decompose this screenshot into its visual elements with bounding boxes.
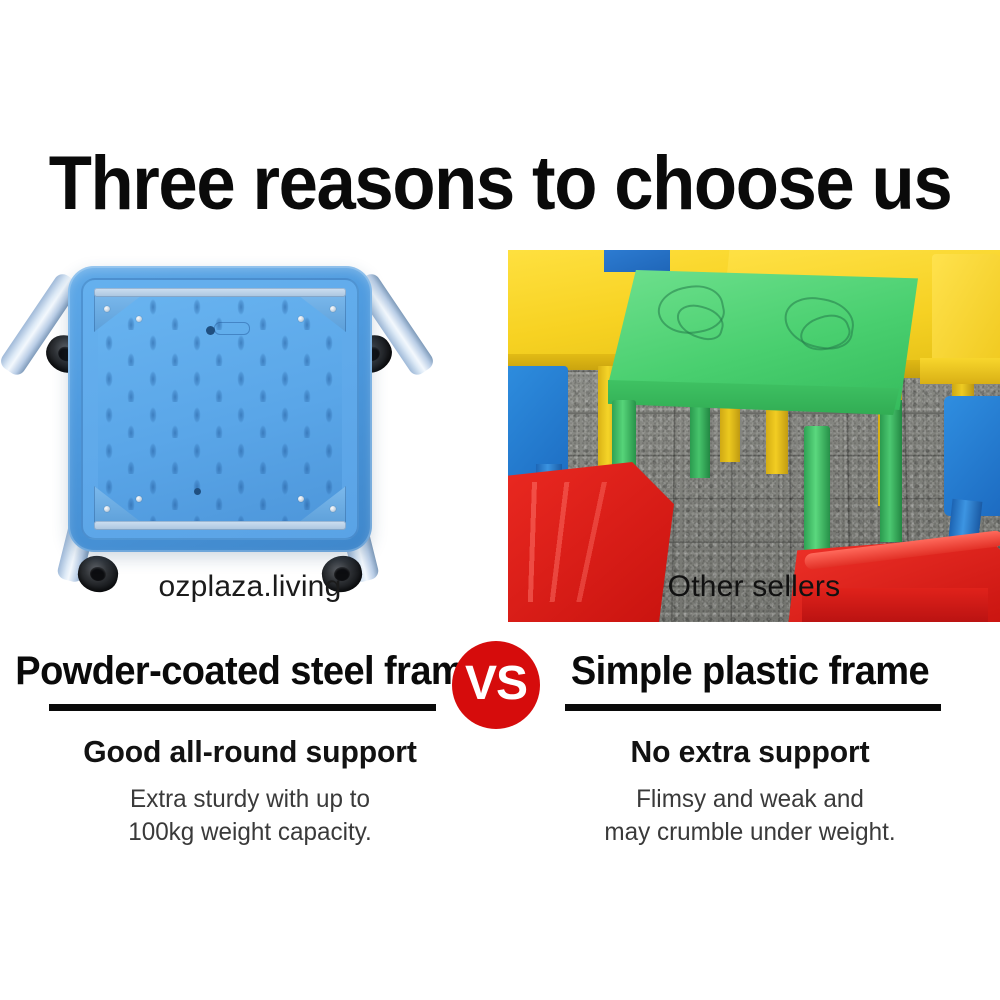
screw: [104, 506, 110, 512]
screw: [298, 496, 304, 502]
promo-infographic: Three reasons to choose us: [0, 0, 1000, 1000]
theirs-body: Flimsy and weak and may crumble under we…: [508, 783, 993, 849]
steel-brace-bottom: [94, 521, 346, 530]
blue-table-illustration: [50, 252, 390, 614]
yellow-chair-back: [932, 254, 1000, 372]
ours-heading: Powder-coated steel frame: [13, 648, 488, 694]
versus-badge-label: VS: [465, 660, 527, 708]
screw: [330, 506, 336, 512]
competitor-caption: Other sellers: [508, 570, 1000, 604]
ours-body-line-2: 100kg weight capacity.: [8, 816, 493, 849]
media-comparison-row: ozplaza.living VS: [0, 248, 1000, 622]
theirs-heading: Simple plastic frame: [513, 648, 988, 694]
theirs-subheading: No extra support: [508, 733, 993, 771]
ours-column: Powder-coated steel frame Good all-round…: [0, 648, 500, 849]
table-inner-panel: [98, 292, 342, 526]
versus-badge: VS: [452, 641, 540, 729]
green-table-leg-back-right: [880, 400, 902, 542]
vent-hole-top: [206, 326, 215, 335]
ours-subheading: Good all-round support: [8, 733, 493, 771]
our-product-caption: ozplaza.living: [0, 570, 500, 604]
vent-hole-bottom: [194, 488, 201, 495]
blue-table-corner: [604, 250, 670, 272]
steel-brace-top: [94, 288, 346, 297]
screw: [298, 316, 304, 322]
screw: [136, 316, 142, 322]
page-title: Three reasons to choose us: [35, 142, 965, 226]
vent-slot: [214, 322, 250, 335]
screw: [136, 496, 142, 502]
theirs-body-line-1: Flimsy and weak and: [508, 783, 993, 816]
our-product-image: [0, 248, 500, 622]
theirs-divider: [565, 704, 941, 711]
competitor-product-image: [508, 250, 1000, 622]
ours-body-line-1: Extra sturdy with up to: [8, 783, 493, 816]
screw: [330, 306, 336, 312]
ours-divider: [49, 704, 436, 711]
theirs-column: Simple plastic frame No extra support Fl…: [500, 648, 1000, 849]
ours-body: Extra sturdy with up to 100kg weight cap…: [8, 783, 493, 849]
screw: [104, 306, 110, 312]
yellow-chair-seat: [920, 358, 1000, 384]
table-underside-shell: [68, 266, 372, 552]
blue-chair-left-back: [508, 366, 568, 476]
theirs-body-line-2: may crumble under weight.: [508, 816, 993, 849]
